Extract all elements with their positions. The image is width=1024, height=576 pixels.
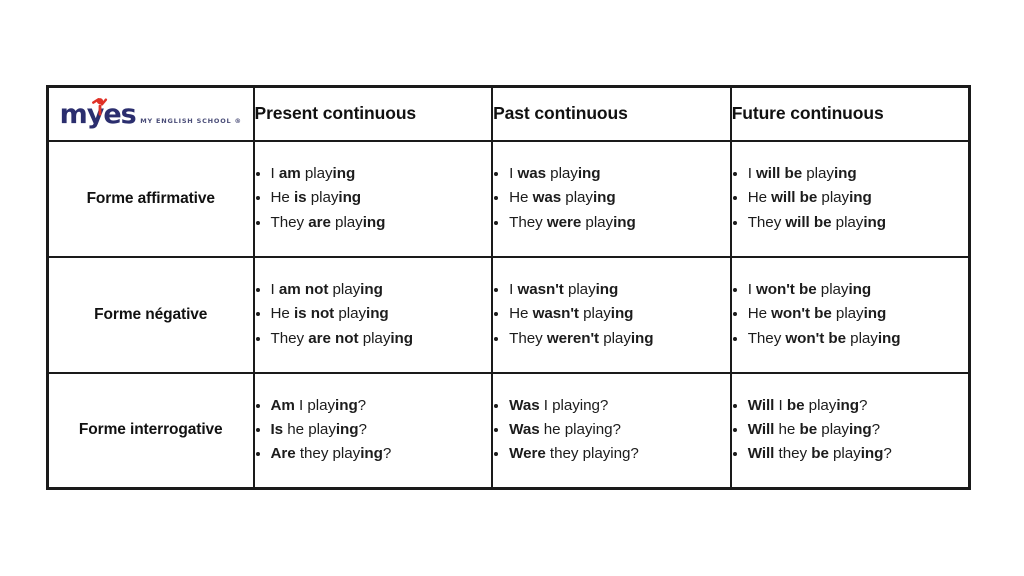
plain-text: play: [846, 330, 878, 347]
plain-text: He: [271, 305, 294, 322]
plain-text: I playing?: [540, 397, 609, 414]
emphasis-text: was: [533, 189, 562, 206]
logo-cell: myes MY ENGLISH SCHOOL ®: [48, 87, 254, 141]
emphasis-text: ing: [335, 397, 358, 414]
emphasis-text: ing: [864, 305, 887, 322]
emphasis-text: Will: [748, 421, 775, 438]
plain-text: I play: [295, 397, 335, 414]
sentence-item: Are they playing?: [271, 442, 492, 466]
emphasis-text: ing: [849, 189, 872, 206]
sentence-item: I am playing: [271, 162, 492, 186]
logo-mark: myes: [60, 102, 136, 128]
emphasis-text: Were: [509, 445, 546, 462]
sentence-item: Were they playing?: [509, 442, 730, 466]
cell-past-continuous-row2: I wasn't playingHe wasn't playingThey we…: [492, 257, 731, 373]
emphasis-text: wasn't: [517, 281, 563, 298]
sentence-item: I was playing: [509, 162, 730, 186]
row-label-3: Forme interrogative: [48, 373, 254, 489]
plain-text: ?: [383, 445, 391, 462]
table-row: Forme interrogativeAm I playing?Is he pl…: [48, 373, 970, 489]
plain-text: I: [271, 281, 279, 298]
sentence-item: I won't be playing: [748, 278, 968, 302]
emphasis-text: Will: [748, 397, 775, 414]
logo-tagline: MY ENGLISH SCHOOL ®: [140, 117, 242, 125]
sentence-item: Will I be playing?: [748, 394, 968, 418]
plain-text: I: [748, 281, 756, 298]
emphasis-text: will be: [771, 189, 817, 206]
plain-text: play: [564, 281, 596, 298]
plain-text: They: [748, 330, 786, 347]
emphasis-text: is: [294, 189, 307, 206]
cell-past-continuous-row3: Was I playing?Was he playing?Were they p…: [492, 373, 731, 489]
cell-future-continuous-row1: I will be playingHe will be playingThey …: [731, 141, 970, 257]
emphasis-text: be: [811, 445, 829, 462]
cell-present-continuous-row2: I am not playingHe is not playingThey ar…: [254, 257, 493, 373]
table-body: Forme affirmativeI am playingHe is playi…: [48, 141, 970, 489]
emphasis-text: will be: [785, 214, 831, 231]
plain-text: play: [817, 189, 849, 206]
emphasis-text: ing: [366, 305, 389, 322]
sentence-item: He is playing: [271, 186, 492, 210]
plain-text: I: [748, 165, 756, 182]
plain-text: ?: [872, 421, 880, 438]
plain-text: They: [271, 214, 309, 231]
sentence-item: He is not playing: [271, 302, 492, 326]
emphasis-text: Was: [509, 397, 540, 414]
sentence-item: Was he playing?: [509, 418, 730, 442]
plain-text: play: [301, 165, 333, 182]
sentence-item: I wasn't playing: [509, 278, 730, 302]
plain-text: play: [832, 305, 864, 322]
emphasis-text: ing: [863, 214, 886, 231]
plain-text: they play: [296, 445, 361, 462]
plain-text: he playing?: [540, 421, 621, 438]
emphasis-text: wasn't: [533, 305, 579, 322]
emphasis-text: am: [279, 165, 301, 182]
plain-text: play: [579, 305, 611, 322]
emphasis-text: won't be: [771, 305, 832, 322]
emphasis-text: ing: [333, 165, 356, 182]
emphasis-text: ing: [360, 445, 383, 462]
row-label-2: Forme négative: [48, 257, 254, 373]
cell-future-continuous-row2: I won't be playingHe won't be playingThe…: [731, 257, 970, 373]
emphasis-text: Am: [271, 397, 295, 414]
emphasis-text: ing: [834, 165, 857, 182]
sentence-list: I am not playingHe is not playingThey ar…: [255, 278, 492, 350]
plain-text: play: [307, 189, 339, 206]
plain-text: play: [832, 214, 864, 231]
plain-text: They: [271, 330, 309, 347]
table-row: Forme affirmativeI am playingHe is playi…: [48, 141, 970, 257]
plain-text: He: [509, 305, 532, 322]
row-label-1: Forme affirmative: [48, 141, 254, 257]
emphasis-text: ing: [849, 421, 872, 438]
plain-text: play: [581, 214, 613, 231]
cell-past-continuous-row1: I was playingHe was playingThey were pla…: [492, 141, 731, 257]
emphasis-text: ing: [861, 445, 884, 462]
emphasis-text: be: [800, 421, 818, 438]
sentence-item: Will he be playing?: [748, 418, 968, 442]
plain-text: He: [748, 305, 771, 322]
plain-text: play: [817, 281, 849, 298]
plain-text: ?: [859, 397, 867, 414]
table-row: Forme négativeI am not playingHe is not …: [48, 257, 970, 373]
emphasis-text: be: [787, 397, 805, 414]
plain-text: They: [509, 330, 547, 347]
emphasis-text: weren't: [547, 330, 599, 347]
sentence-list: I was playingHe was playingThey were pla…: [493, 162, 730, 234]
plain-text: play: [328, 281, 360, 298]
sentence-list: I wasn't playingHe wasn't playingThey we…: [493, 278, 730, 350]
plain-text: play: [802, 165, 834, 182]
plain-text: I: [271, 165, 279, 182]
sentence-list: Am I playing?Is he playing?Are they play…: [255, 394, 492, 466]
emphasis-text: ing: [338, 189, 361, 206]
person-icon: [91, 97, 109, 123]
sentence-list: I won't be playingHe won't be playingThe…: [732, 278, 968, 350]
header-future-continuous: Future continuous: [731, 87, 970, 141]
emphasis-text: is not: [294, 305, 334, 322]
plain-text: play: [805, 397, 837, 414]
sentence-item: They won't be playing: [748, 327, 968, 351]
cell-present-continuous-row1: I am playingHe is playingThey are playin…: [254, 141, 493, 257]
plain-text: ?: [358, 397, 366, 414]
emphasis-text: Was: [509, 421, 540, 438]
plain-text: they: [774, 445, 811, 462]
sentence-list: I will be playingHe will be playingThey …: [732, 162, 968, 234]
emphasis-text: ing: [336, 421, 359, 438]
emphasis-text: are: [308, 214, 331, 231]
emphasis-text: Will: [748, 445, 775, 462]
sentence-item: I am not playing: [271, 278, 492, 302]
emphasis-text: ing: [836, 397, 859, 414]
plain-text: play: [561, 189, 593, 206]
emphasis-text: ing: [363, 214, 386, 231]
header-past-continuous: Past continuous: [492, 87, 731, 141]
emphasis-text: ing: [631, 330, 654, 347]
plain-text: they playing?: [546, 445, 639, 462]
emphasis-text: ing: [613, 214, 636, 231]
emphasis-text: won't be: [785, 330, 846, 347]
continuous-tenses-table: myes MY ENGLISH SCHOOL ® Present continu…: [46, 85, 971, 490]
plain-text: play: [817, 421, 849, 438]
plain-text: ?: [883, 445, 891, 462]
plain-text: he play: [283, 421, 336, 438]
emphasis-text: Are: [271, 445, 296, 462]
sentence-item: They weren't playing: [509, 327, 730, 351]
plain-text: He: [271, 189, 294, 206]
sentence-item: Is he playing?: [271, 418, 492, 442]
myes-logo: myes MY ENGLISH SCHOOL ®: [60, 100, 242, 128]
sentence-item: They are not playing: [271, 327, 492, 351]
plain-text: play: [829, 445, 861, 462]
emphasis-text: Is: [271, 421, 284, 438]
plain-text: play: [359, 330, 391, 347]
cell-present-continuous-row3: Am I playing?Is he playing?Are they play…: [254, 373, 493, 489]
plain-text: play: [546, 165, 578, 182]
emphasis-text: were: [547, 214, 581, 231]
sentence-item: He won't be playing: [748, 302, 968, 326]
plain-text: He: [509, 189, 532, 206]
sentence-item: He will be playing: [748, 186, 968, 210]
plain-text: ?: [359, 421, 367, 438]
emphasis-text: ing: [593, 189, 616, 206]
sentence-item: I will be playing: [748, 162, 968, 186]
plain-text: play: [599, 330, 631, 347]
sentence-item: He was playing: [509, 186, 730, 210]
plain-text: play: [334, 305, 366, 322]
emphasis-text: ing: [848, 281, 871, 298]
sentence-list: Will I be playing?Will he be playing?Wil…: [732, 394, 968, 466]
sentence-item: They will be playing: [748, 211, 968, 235]
sentence-item: They are playing: [271, 211, 492, 235]
sentence-item: He wasn't playing: [509, 302, 730, 326]
plain-text: I: [774, 397, 787, 414]
sentence-list: I am playingHe is playingThey are playin…: [255, 162, 492, 234]
emphasis-text: ing: [611, 305, 634, 322]
emphasis-text: ing: [578, 165, 601, 182]
emphasis-text: will be: [756, 165, 802, 182]
header-present-continuous: Present continuous: [254, 87, 493, 141]
emphasis-text: ing: [360, 281, 383, 298]
emphasis-text: are not: [308, 330, 358, 347]
sentence-list: Was I playing?Was he playing?Were they p…: [493, 394, 730, 466]
emphasis-text: ing: [878, 330, 901, 347]
emphasis-text: ing: [596, 281, 619, 298]
sentence-item: They were playing: [509, 211, 730, 235]
sentence-item: Was I playing?: [509, 394, 730, 418]
plain-text: he: [774, 421, 799, 438]
plain-text: They: [509, 214, 547, 231]
plain-text: They: [748, 214, 786, 231]
table-header-row: myes MY ENGLISH SCHOOL ® Present continu…: [48, 87, 970, 141]
sentence-item: Am I playing?: [271, 394, 492, 418]
emphasis-text: was: [517, 165, 546, 182]
emphasis-text: ing: [390, 330, 413, 347]
plain-text: He: [748, 189, 771, 206]
emphasis-text: won't be: [756, 281, 817, 298]
sentence-item: Will they be playing?: [748, 442, 968, 466]
cell-future-continuous-row3: Will I be playing?Will he be playing?Wil…: [731, 373, 970, 489]
emphasis-text: am not: [279, 281, 328, 298]
plain-text: play: [331, 214, 363, 231]
